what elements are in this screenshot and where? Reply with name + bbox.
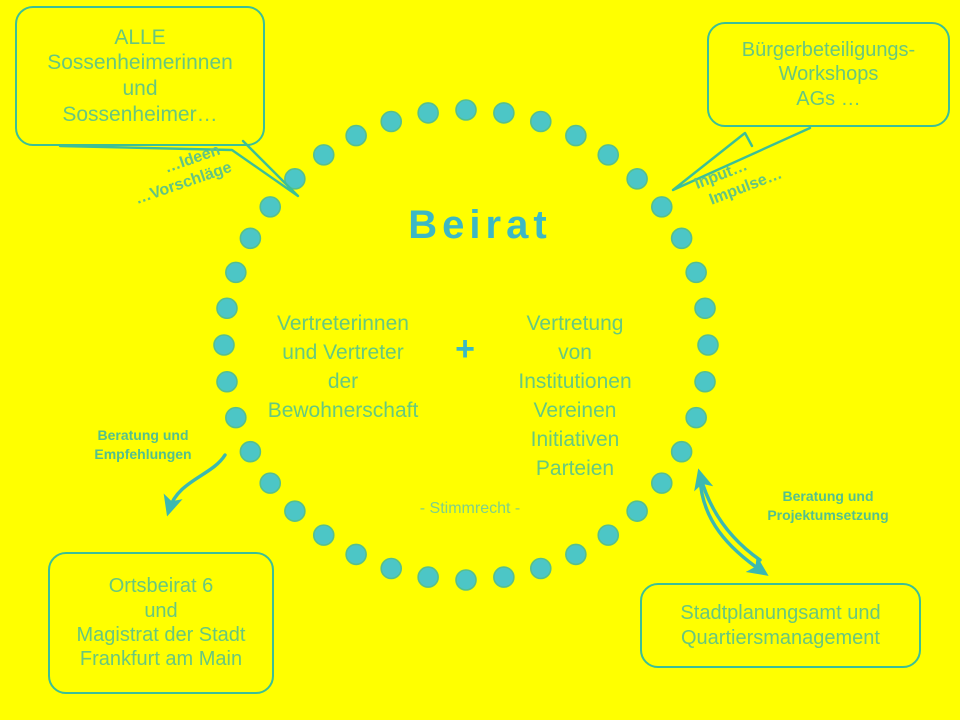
- ring-dot: [217, 372, 237, 392]
- callout-line: Stadtplanungsamt und: [680, 601, 880, 625]
- callout-line: AGs …: [796, 87, 860, 111]
- ring-dot: [566, 126, 586, 146]
- callout-line: Ortsbeirat 6: [109, 574, 213, 598]
- ring-dot: [698, 335, 718, 355]
- center-column-right: Vertretung von Institutionen Vereinen In…: [480, 310, 670, 484]
- ring-dot: [285, 501, 305, 521]
- callout-line: Magistrat der Stadt: [77, 623, 246, 647]
- center-line: der: [248, 368, 438, 397]
- center-line: Vertreterinnen: [248, 310, 438, 339]
- ring-dot: [672, 442, 692, 462]
- ring-dot: [226, 408, 246, 428]
- callout-line: ALLE: [114, 25, 165, 51]
- center-line: Initiativen: [480, 426, 670, 455]
- ring-dot: [627, 501, 647, 521]
- ring-dot: [285, 169, 305, 189]
- callout-line: Bürgerbeteiligungs-: [742, 38, 915, 62]
- footnote-stimmrecht: - Stimmrecht -: [330, 500, 610, 518]
- ring-dot: [346, 544, 366, 564]
- ring-dot: [598, 145, 618, 165]
- ring-dot: [456, 100, 476, 120]
- arrow-label-line: Projektumsetzung: [767, 507, 888, 523]
- ring-dot: [346, 126, 366, 146]
- ring-dot: [226, 262, 246, 282]
- arrow-label-beratung-empfehlungen: Beratung und Empfehlungen: [78, 426, 208, 464]
- callout-line: Sossenheimerinnen: [47, 50, 233, 76]
- diagram-canvas: ALLE Sossenheimerinnen und Sossenheimer……: [0, 0, 960, 720]
- ring-dot: [381, 112, 401, 132]
- ring-dot: [456, 570, 476, 590]
- callout-buergerbeteiligung[interactable]: Bürgerbeteiligungs- Workshops AGs …: [707, 22, 950, 127]
- ring-dot: [566, 544, 586, 564]
- callout-alle-sossenheimer[interactable]: ALLE Sossenheimerinnen und Sossenheimer…: [15, 6, 265, 146]
- ring-dot: [686, 262, 706, 282]
- ring-dot: [531, 559, 551, 579]
- center-line: Institutionen: [480, 368, 670, 397]
- callout-line: Sossenheimer…: [62, 102, 217, 128]
- ring-dot: [494, 103, 514, 123]
- center-line: von: [480, 339, 670, 368]
- ring-dot: [531, 112, 551, 132]
- ring-dot: [686, 408, 706, 428]
- callout-ortsbeirat-magistrat[interactable]: Ortsbeirat 6 und Magistrat der Stadt Fra…: [48, 552, 274, 694]
- callout-line: Frankfurt am Main: [80, 647, 242, 671]
- ring-dot: [314, 525, 334, 545]
- ring-dot: [494, 567, 514, 587]
- ring-dot: [314, 145, 334, 165]
- center-line: Vereinen: [480, 397, 670, 426]
- ring-dot: [418, 103, 438, 123]
- center-line: Parteien: [480, 455, 670, 484]
- callout-line: und: [122, 76, 157, 102]
- arrow-label-line: Beratung und: [98, 427, 189, 443]
- arrow-label-line: Empfehlungen: [94, 446, 191, 462]
- arrow-label-beratung-projektumsetzung: Beratung und Projektumsetzung: [742, 487, 914, 525]
- ring-dot: [240, 442, 260, 462]
- ring-dot: [217, 298, 237, 318]
- callout-line: Quartiersmanagement: [681, 626, 880, 650]
- callout-line: und: [144, 599, 177, 623]
- ring-dot: [260, 473, 280, 493]
- callout-stadtplanungsamt[interactable]: Stadtplanungsamt und Quartiersmanagement: [640, 583, 921, 668]
- ring-dot: [627, 169, 647, 189]
- ring-dot: [418, 567, 438, 587]
- annotation-ideen-vorschlaege: …Ideen …Vorschläge: [126, 139, 235, 211]
- center-line: Vertretung: [480, 310, 670, 339]
- diagram-title: Beirat: [0, 203, 960, 248]
- ring-dot: [598, 525, 618, 545]
- center-line: Bewohnerschaft: [248, 397, 438, 426]
- arrow-label-line: Beratung und: [783, 488, 874, 504]
- ring-dot: [695, 372, 715, 392]
- callout-line: Workshops: [779, 62, 879, 86]
- center-column-left: Vertreterinnen und Vertreter der Bewohne…: [248, 310, 438, 426]
- center-line: und Vertreter: [248, 339, 438, 368]
- ring-dot: [695, 298, 715, 318]
- ring-dot: [214, 335, 234, 355]
- ring-dot: [381, 559, 401, 579]
